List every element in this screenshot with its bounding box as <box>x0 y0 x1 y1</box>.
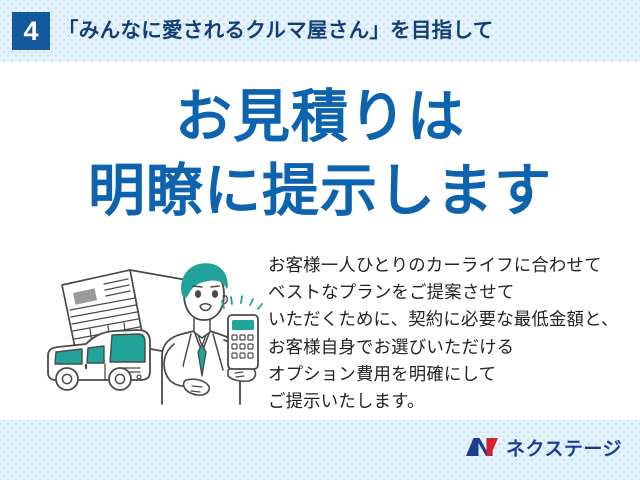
headline-block: お見積りは 明瞭に提示します <box>0 80 640 228</box>
body-line-6: ご提示いたします。 <box>268 388 640 415</box>
page-title: 「みんなに愛されるクルマ屋さん」を目指して <box>58 13 494 49</box>
body-line-1: お客様一人ひとりのカーライフに合わせて <box>268 252 640 279</box>
body-line-3: いただくために、契約に必要な最低金額と、 <box>268 306 640 333</box>
section-number-badge: 4 <box>12 12 50 50</box>
slide-header: 4 「みんなに愛されるクルマ屋さん」を目指して <box>0 0 640 62</box>
body-line-5: オプション費用を明確にして <box>268 361 640 388</box>
slide-canvas: 4 「みんなに愛されるクルマ屋さん」を目指して お見積りは 明瞭に提示します <box>0 0 640 480</box>
headline-line-1: お見積りは <box>0 80 640 154</box>
body-line-2: ベストなプランをご提案させて <box>268 279 640 306</box>
slide-footer: ネクステージ <box>0 420 640 480</box>
brand-name: ネクステージ <box>506 434 622 461</box>
sales-staff-illustration <box>42 252 268 412</box>
content-panel: お見積りは 明瞭に提示します <box>0 62 640 420</box>
headline-line-2: 明瞭に提示します <box>0 154 640 228</box>
brand-lockup: ネクステージ <box>465 432 622 462</box>
body-paragraph: お客様一人ひとりのカーライフに合わせて ベストなプランをご提案させて いただくた… <box>268 252 640 415</box>
body-line-4: お客様自身でお選びいただける <box>268 334 640 361</box>
nextage-n-logo-icon <box>465 436 499 458</box>
